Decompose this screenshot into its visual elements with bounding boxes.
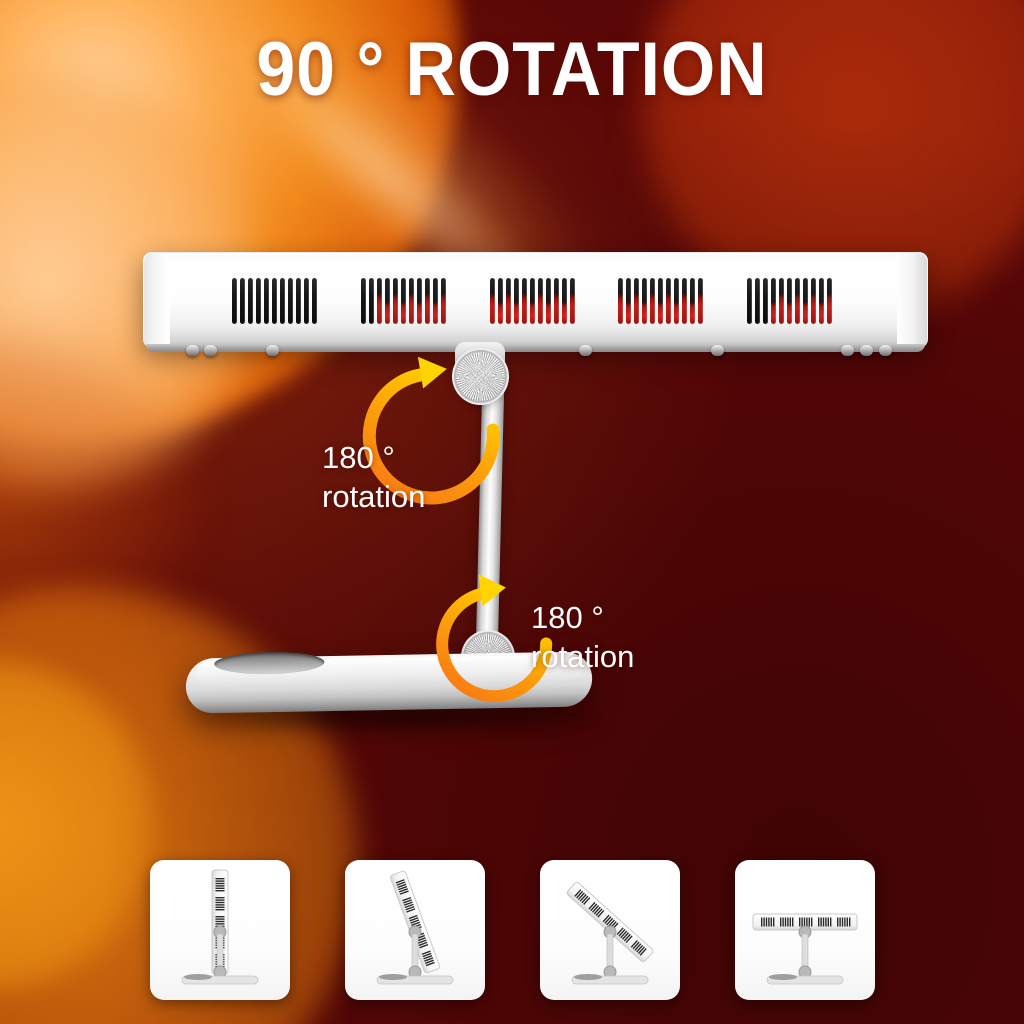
vent-slot — [490, 278, 495, 324]
vent-slot — [361, 278, 366, 324]
glow-left-middle — [0, 330, 190, 660]
vent-slot — [506, 278, 511, 324]
thumbnail-strip — [0, 860, 1024, 1000]
thumbnail-horizontal-orientation[interactable] — [735, 860, 875, 1000]
vent-slot — [393, 278, 398, 324]
vent-slot — [546, 278, 551, 324]
vent-slot — [296, 278, 301, 324]
thumbnail-stand — [767, 926, 843, 984]
vent-slot — [232, 278, 237, 324]
product-thumbnail-icon — [540, 860, 680, 1000]
vent-slot — [570, 278, 575, 324]
vent-slot — [747, 278, 752, 324]
vent-slot — [642, 278, 647, 324]
vent-group — [747, 278, 832, 324]
panel-clip-foot — [186, 345, 199, 356]
vent-slot — [514, 278, 519, 324]
vent-group — [618, 278, 703, 324]
callout-line-1: 180 ° — [322, 440, 395, 475]
vent-group — [361, 278, 446, 324]
panel-clip-foot — [266, 345, 279, 356]
vent-slot — [682, 278, 687, 324]
panel-clip-foot — [711, 345, 724, 356]
vent-slot — [256, 278, 261, 324]
thumbnail-tilted-orientation[interactable] — [345, 860, 485, 1000]
thumbnail-diagonal-orientation[interactable] — [540, 860, 680, 1000]
page-title: 90 ° ROTATION — [41, 26, 983, 113]
panel-clip-foot — [860, 345, 873, 356]
vent-slot — [385, 278, 390, 324]
vent-slot — [264, 278, 269, 324]
vent-slot — [698, 278, 703, 324]
thumbnail-stand — [182, 926, 258, 984]
vent-slot — [304, 278, 309, 324]
panel-clip-foot — [841, 345, 854, 356]
vent-slot — [409, 278, 414, 324]
vent-slot — [811, 278, 816, 324]
vent-slot — [530, 278, 535, 324]
panel-bottom-edge — [146, 344, 925, 352]
vent-slot — [280, 278, 285, 324]
panel-left-end-cap — [144, 253, 170, 347]
vent-slot — [626, 278, 631, 324]
vent-slot — [248, 278, 253, 324]
callout-line-2: rotation — [322, 477, 425, 516]
vent-slot — [369, 278, 374, 324]
vent-slot — [377, 278, 382, 324]
vent-slot — [795, 278, 800, 324]
vent-slot — [240, 278, 245, 324]
callout-top-hinge: 180 ° rotation — [322, 438, 425, 516]
vent-slot — [618, 278, 623, 324]
callout-line-2: rotation — [531, 637, 634, 676]
vent-slot — [771, 278, 776, 324]
product-thumbnail-icon — [735, 860, 875, 1000]
vent-slot — [288, 278, 293, 324]
vent-group — [490, 278, 575, 324]
vent-slot-area — [232, 278, 832, 324]
vent-slot — [554, 278, 559, 324]
callout-bottom-hinge: 180 ° rotation — [531, 598, 634, 676]
callout-line-1: 180 ° — [531, 600, 604, 635]
vent-slot — [312, 278, 317, 324]
vent-slot — [819, 278, 824, 324]
vent-slot — [787, 278, 792, 324]
vent-slot — [803, 278, 808, 324]
vent-slot — [634, 278, 639, 324]
panel-right-end-cap — [897, 253, 927, 347]
panel-clip-foot — [204, 345, 217, 356]
vent-slot — [763, 278, 768, 324]
vent-slot — [658, 278, 663, 324]
vent-slot — [425, 278, 430, 324]
product-thumbnail-icon — [345, 860, 485, 1000]
vent-slot — [690, 278, 695, 324]
vent-slot — [666, 278, 671, 324]
vent-slot — [433, 278, 438, 324]
vent-slot — [441, 278, 446, 324]
vent-slot — [417, 278, 422, 324]
vent-slot — [827, 278, 832, 324]
vent-group — [232, 278, 317, 324]
panel-clip-foot — [879, 345, 892, 356]
vent-slot — [674, 278, 679, 324]
vent-slot — [272, 278, 277, 324]
vent-slot — [562, 278, 567, 324]
product-thumbnail-icon — [150, 860, 290, 1000]
vent-slot — [755, 278, 760, 324]
vent-slot — [401, 278, 406, 324]
vent-slot — [498, 278, 503, 324]
panel-clip-foot — [579, 345, 592, 356]
vent-panel — [143, 252, 928, 348]
thumbnail-stand — [377, 926, 453, 984]
vent-slot — [650, 278, 655, 324]
vent-slot — [779, 278, 784, 324]
thumbnail-vertical-orientation[interactable] — [150, 860, 290, 1000]
feature-graphic-canvas: 90 ° ROTATION — [0, 0, 1024, 1024]
vent-slot — [538, 278, 543, 324]
vent-slot — [522, 278, 527, 324]
